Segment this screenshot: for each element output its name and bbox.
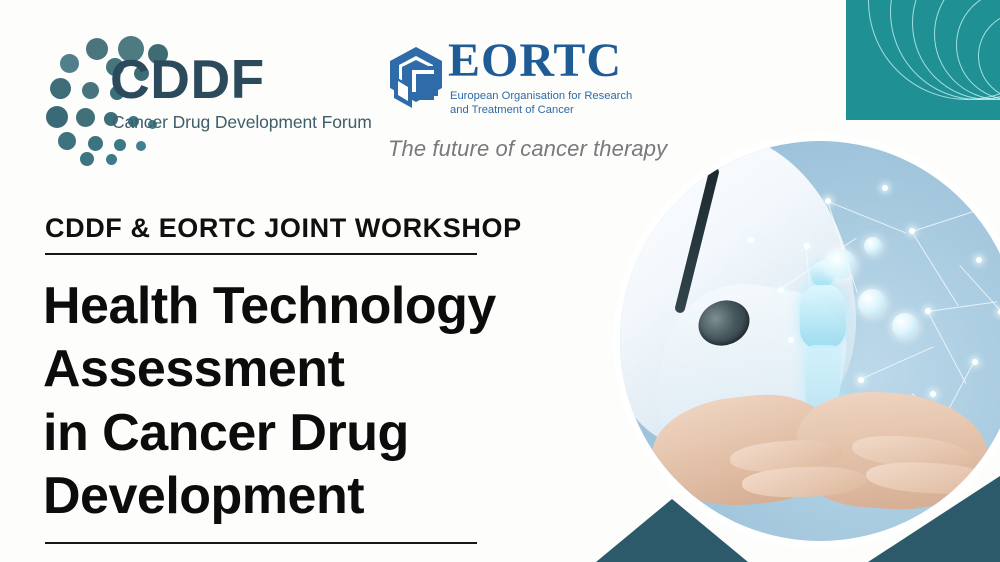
eortc-logo[interactable]: EORTC European Organisation for Research… [386, 40, 646, 125]
eortc-subtitle: European Organisation for Research and T… [450, 89, 650, 118]
network-node [882, 185, 888, 191]
network-node [788, 337, 794, 343]
network-line [928, 301, 997, 312]
network-node [858, 377, 864, 383]
headline-line-4: Development [43, 465, 603, 528]
teal-arc-corner-block [846, 0, 1000, 120]
holo-organ-glow [858, 289, 886, 317]
poster-canvas: CDDF Cancer Drug Development Forum EORTC… [0, 0, 1000, 562]
holographic-human-figure [796, 261, 850, 411]
network-node [972, 359, 978, 365]
eortc-tagline: The future of cancer therapy [388, 136, 667, 162]
headline-line-1: Health Technology [43, 275, 603, 338]
cddf-logo[interactable]: CDDF Cancer Drug Development Forum [44, 36, 344, 158]
eortc-subtitle-line-2: and Treatment of Cancer [450, 103, 650, 117]
decor-triangle-bottom-right [868, 476, 1000, 562]
network-node [930, 391, 936, 397]
headline-line-2: Assessment [43, 338, 603, 401]
holo-organ-glow [864, 237, 882, 255]
page-title: Health Technology Assessment in Cancer D… [43, 275, 603, 529]
network-node [925, 308, 931, 314]
network-line [959, 265, 1000, 319]
network-node [804, 243, 810, 249]
cddf-wordmark: CDDF [110, 52, 265, 107]
divider-top [45, 253, 477, 255]
headline-line-3: in Cancer Drug [43, 402, 603, 465]
eortc-cube-svg [386, 46, 450, 112]
divider-bottom [45, 542, 477, 544]
network-line [828, 201, 906, 233]
network-node [976, 257, 982, 263]
network-node [909, 228, 915, 234]
eortc-subtitle-line-1: European Organisation for Research [450, 89, 650, 103]
holo-organ-glow [892, 313, 918, 339]
network-line [912, 208, 985, 232]
network-node [778, 287, 784, 293]
network-line [911, 231, 958, 306]
workshop-kicker: CDDF & EORTC JOINT WORKSHOP [45, 213, 522, 244]
holo-torso [800, 285, 846, 347]
network-line [860, 346, 933, 379]
cddf-subtitle: Cancer Drug Development Forum [112, 112, 372, 133]
network-node [825, 198, 831, 204]
network-node [748, 237, 754, 243]
decor-triangle-bottom-left [596, 499, 748, 562]
holo-organ-glow [826, 249, 856, 279]
eortc-wordmark: EORTC [448, 37, 622, 85]
eortc-cube-hexagon-icon [386, 46, 450, 112]
